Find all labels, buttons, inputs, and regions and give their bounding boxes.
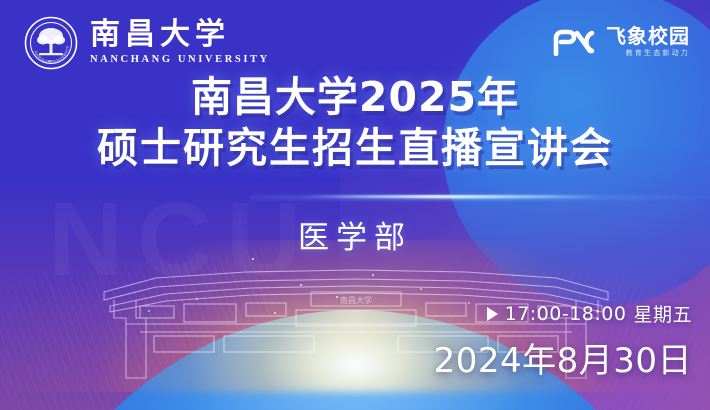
svg-text:1921: 1921 xyxy=(48,59,55,63)
brand-slogan: 教育生态新动力 xyxy=(606,50,690,57)
nanchang-university-logo: NANCHANG UNIVERSITY 1921 南昌大学 NANCHANG U… xyxy=(24,16,270,70)
fx-monogram-icon xyxy=(552,28,598,56)
schedule-date: 2024年8月30日 xyxy=(434,333,692,382)
title-line-2: 硕士研究生招生直播宣讲会 xyxy=(0,122,710,174)
university-name-en: NANCHANG UNIVERSITY xyxy=(90,55,270,66)
schedule-time-row: 17:00-18:00 星期五 xyxy=(434,300,692,327)
schedule-block: 17:00-18:00 星期五 2024年8月30日 xyxy=(434,300,692,382)
poster-subtitle: 医学部 xyxy=(0,212,710,257)
title-line-1: 南昌大学2025年 xyxy=(0,72,710,122)
schedule-time-range: 17:00-18:00 xyxy=(505,303,627,325)
brand-name-cn: 飞象校园 xyxy=(606,26,690,46)
title-light-streak-core xyxy=(300,195,600,198)
schedule-weekday: 星期五 xyxy=(633,300,692,327)
feixiang-campus-logo: 飞象校园 教育生态新动力 xyxy=(552,26,690,57)
play-triangle-icon xyxy=(487,307,498,321)
university-name-cn: 南昌大学 xyxy=(90,20,270,50)
live-stream-promo-poster: NCU xyxy=(0,0,710,410)
poster-title: 南昌大学2025年 硕士研究生招生直播宣讲会 xyxy=(0,72,710,174)
university-seal-icon: NANCHANG UNIVERSITY 1921 xyxy=(24,16,78,70)
